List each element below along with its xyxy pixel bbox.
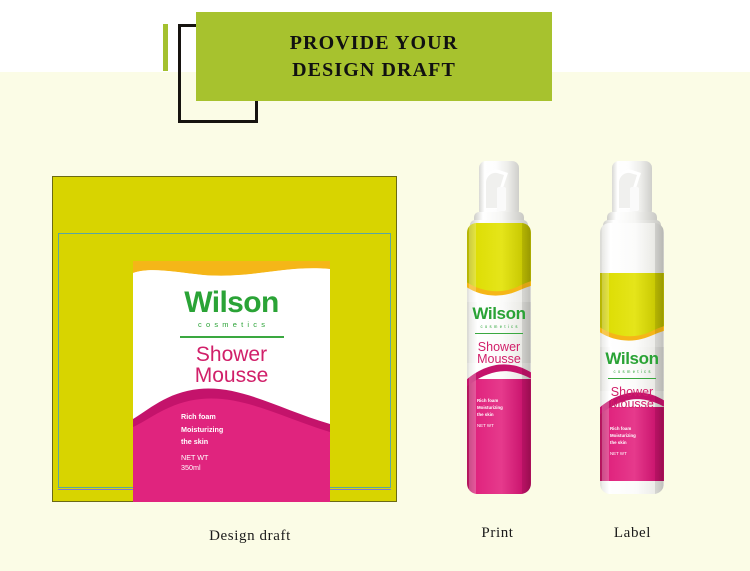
caption-label: Label (570, 525, 695, 542)
page-title: PROVIDE YOUR DESIGN DRAFT (196, 12, 552, 101)
page-title-line1: PROVIDE YOUR (290, 32, 459, 54)
bottle-label: Wilson cosmetics Shower Mousse Rich foam… (588, 157, 676, 495)
caption-print: Print (435, 525, 560, 542)
design-draft-label-artwork (133, 261, 330, 502)
page-title-line2: DESIGN DRAFT (292, 59, 456, 81)
bottle-print: Wilson cosmetics Shower Mousse Rich foam… (455, 157, 543, 495)
header-accent-bar (163, 24, 168, 71)
product-design-showcase: PROVIDE YOUR DESIGN DRAFT Wilson cosmeti… (0, 0, 750, 571)
caption-design-draft: Design draft (150, 528, 350, 545)
